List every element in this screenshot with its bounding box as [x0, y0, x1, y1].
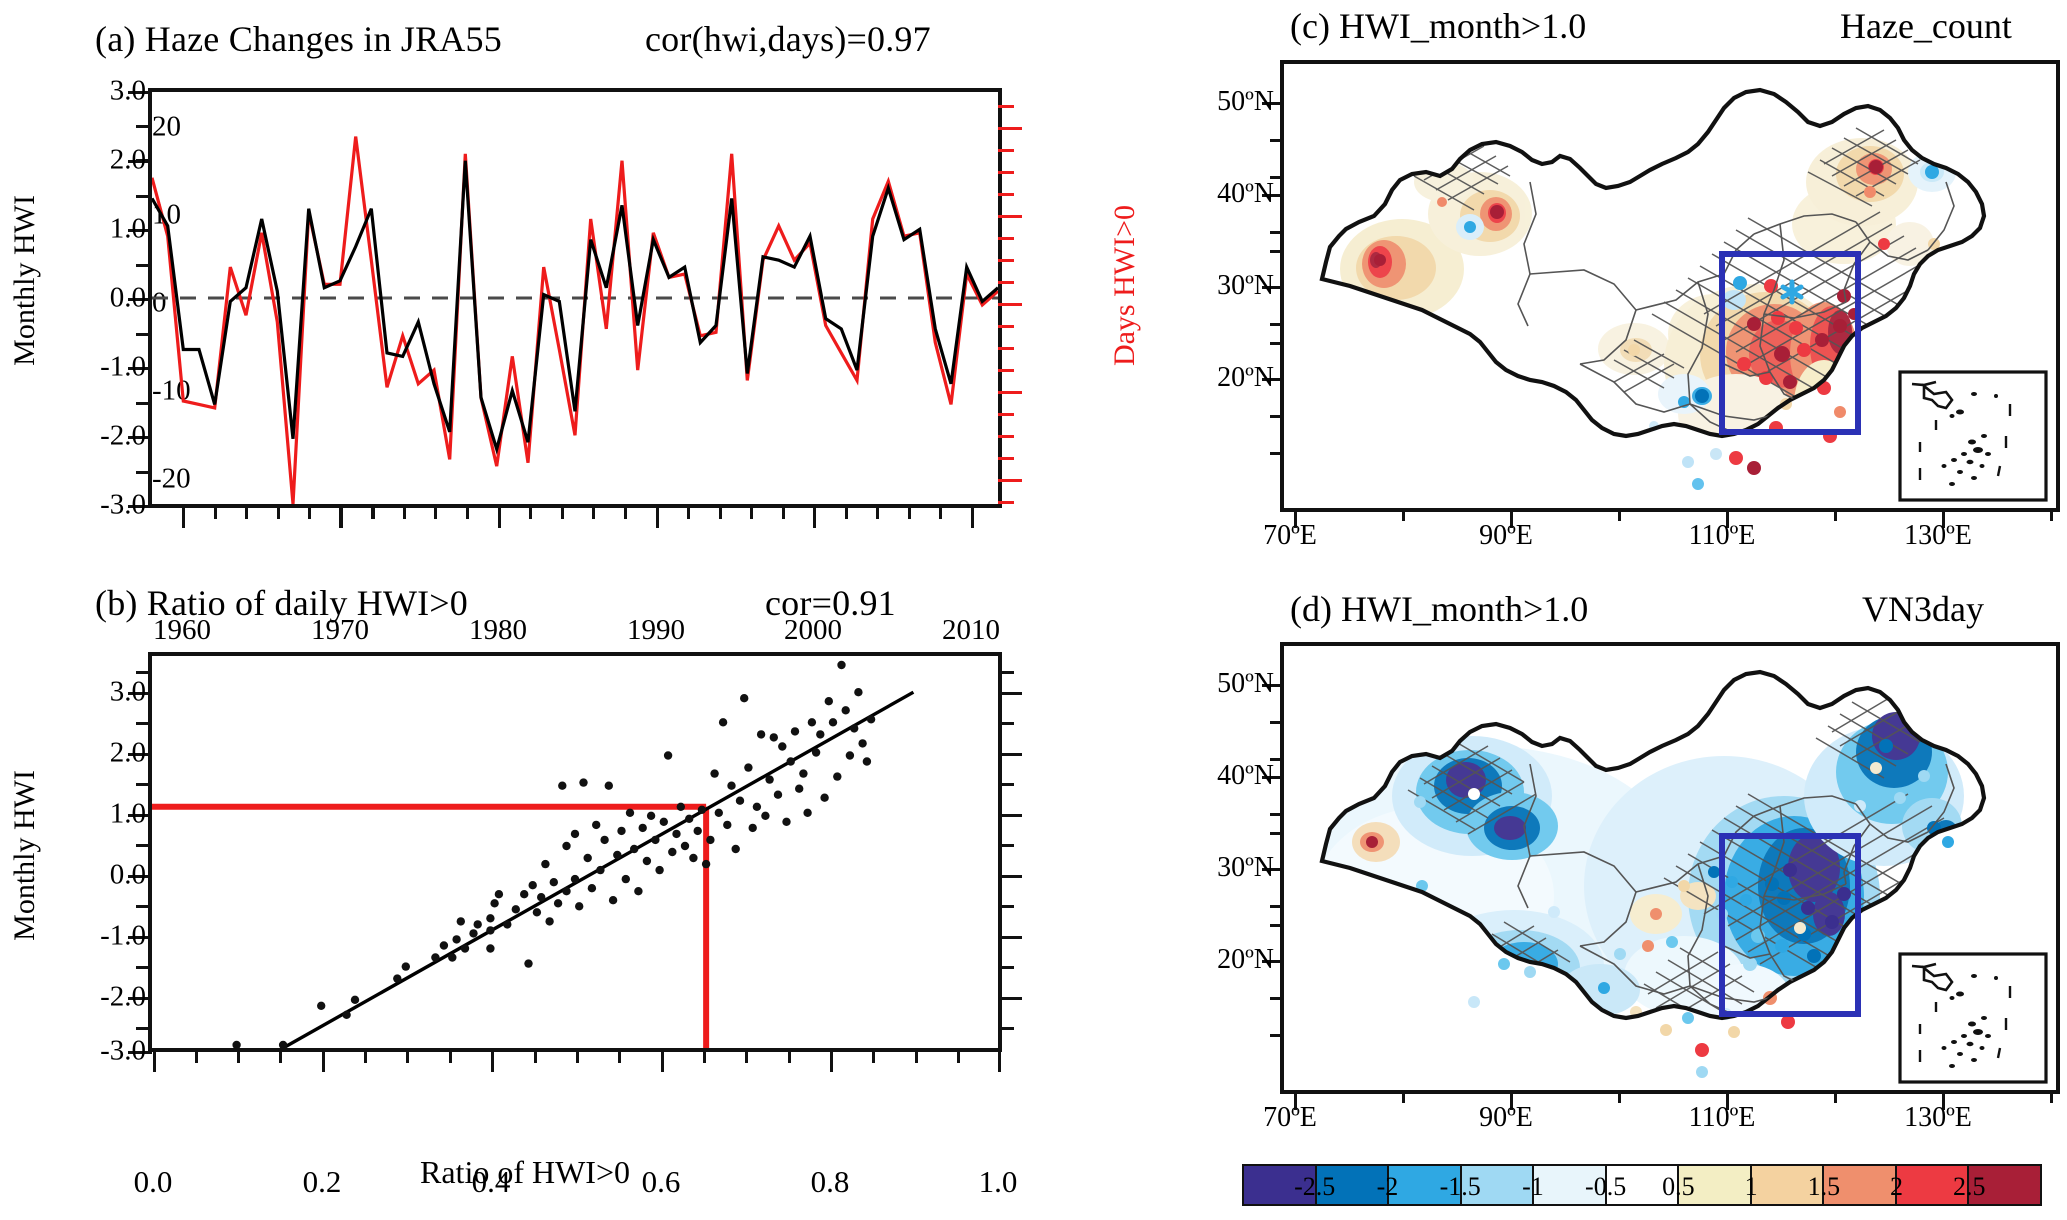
- panel-a-ytick-left-5: -2.0: [80, 420, 146, 453]
- colorbar-label-5: 0.5: [1662, 1172, 1695, 1202]
- scatter-point: [723, 821, 731, 829]
- scatter-point: [858, 739, 866, 747]
- panel-d-lat-3: 20ºN: [1174, 944, 1274, 976]
- scatter-point: [850, 724, 858, 732]
- scatter-point: [757, 730, 765, 738]
- panel-a-ytick-left-2: 1.0: [80, 213, 146, 246]
- scatter-point: [452, 935, 460, 943]
- colorbar-label-3: -1: [1522, 1172, 1544, 1202]
- panel-b-xlabel: Ratio of HWI>0: [420, 1154, 630, 1191]
- scatter-point: [545, 917, 553, 925]
- scatter-point: [833, 772, 841, 780]
- panel-c-lat-2: 30ºN: [1174, 270, 1274, 302]
- panel-b: (b) Ratio of daily HWI>0 cor=0.91 Monthl…: [0, 560, 1160, 1220]
- panel-a-correlation: cor(hwi,days)=0.97: [645, 18, 931, 60]
- panel-c-title: (c) HWI_month>1.0: [1290, 5, 1586, 47]
- scatter-point: [317, 1002, 325, 1010]
- panel-c-lon-0: 70ºE: [1263, 520, 1317, 552]
- panel-b-ytick-3: 0.0: [80, 859, 146, 892]
- scatter-point: [630, 845, 638, 853]
- scatter-point: [681, 842, 689, 850]
- scatter-point: [706, 836, 714, 844]
- panel-d-lon-2: 110ºE: [1689, 1102, 1756, 1134]
- colorbar-label-7: 1.5: [1808, 1172, 1841, 1202]
- panel-c-lat-0: 50ºN: [1174, 86, 1274, 118]
- scatter-point: [613, 851, 621, 859]
- scatter-point: [655, 866, 663, 874]
- scatter-point: [550, 878, 558, 886]
- scatter-point: [554, 899, 562, 907]
- panel-b-title: (b) Ratio of daily HWI>0: [95, 582, 468, 624]
- scatter-point: [749, 824, 757, 832]
- scatter-point: [457, 917, 465, 925]
- scatter-point: [592, 821, 600, 829]
- colorbar: [1242, 1164, 2042, 1206]
- colorbar-label-1: -2: [1377, 1172, 1399, 1202]
- scatter-point: [617, 827, 625, 835]
- scatter-point: [647, 812, 655, 820]
- scatter-points: [232, 661, 875, 1048]
- contour-fill-warm: [1340, 138, 1956, 486]
- scatter-point: [664, 751, 672, 759]
- scatter-point: [520, 890, 528, 898]
- panel-b-ylabel: Monthly HWI: [8, 770, 42, 941]
- scatter-point: [571, 830, 579, 838]
- panel-b-xtick-2: 0.4: [472, 1164, 511, 1200]
- scatter-point: [402, 962, 410, 970]
- south-china-sea-inset: [1900, 372, 2046, 500]
- scatter-point: [803, 809, 811, 817]
- scatter-point: [753, 803, 761, 811]
- scatter-point: [812, 748, 820, 756]
- scatter-point: [770, 733, 778, 741]
- panel-b-xtick-3: 0.6: [642, 1164, 681, 1200]
- figure-root: (a) Haze Changes in JRA55 cor(hwi,days)=…: [0, 0, 2067, 1219]
- panel-b-ytick-6: -3.0: [80, 1035, 146, 1068]
- panel-c-lat-3: 20ºN: [1174, 362, 1274, 394]
- panel-a-ytick-left-6: -3.0: [80, 489, 146, 522]
- scatter-point: [524, 959, 532, 967]
- panel-b-xtick-4: 0.8: [811, 1164, 850, 1200]
- scatter-point: [799, 769, 807, 777]
- scatter-point: [596, 866, 604, 874]
- scatter-point: [486, 914, 494, 922]
- colorbar-label-4: -0.5: [1585, 1172, 1626, 1202]
- scatter-point: [710, 769, 718, 777]
- scatter-point: [715, 809, 723, 817]
- scatter-point: [719, 718, 727, 726]
- panel-d-lon-3: 130ºE: [1904, 1102, 1972, 1134]
- scatter-point: [744, 763, 752, 771]
- scatter-point: [778, 742, 786, 750]
- scatter-point: [863, 757, 871, 765]
- scatter-point: [571, 875, 579, 883]
- panel-a-ytick-left-3: 0.0: [80, 282, 146, 315]
- panel-a-ytick-left-1: 2.0: [80, 144, 146, 177]
- colorbar-label-8: 2: [1890, 1172, 1903, 1202]
- scatter-point: [351, 996, 359, 1004]
- panel-b-xtick-1: 0.2: [303, 1164, 342, 1200]
- scatter-point: [622, 875, 630, 883]
- scatter-point: [825, 697, 833, 705]
- colorbar-label-6: 1: [1745, 1172, 1758, 1202]
- panel-c-lon-3: 130ºE: [1904, 520, 1972, 552]
- scatter-point: [486, 944, 494, 952]
- scatter-point: [393, 974, 401, 982]
- scatter-point: [837, 661, 845, 669]
- panel-d-lat-0: 50ºN: [1174, 668, 1274, 700]
- panel-b-xtick-0: 0.0: [134, 1164, 173, 1200]
- south-china-sea-inset: [1900, 954, 2046, 1082]
- panel-a: (a) Haze Changes in JRA55 cor(hwi,days)=…: [0, 0, 1160, 560]
- panel-a-timeseries: [152, 92, 998, 504]
- panel-d-subtitle: VN3day: [1862, 588, 1984, 630]
- panel-c-svg: [1284, 64, 2056, 508]
- scatter-point: [512, 905, 520, 913]
- panel-a-plot-area: 3.0 2.0 1.0 0.0 -1.0 -2.0 -3.0 20 10 0 -…: [148, 88, 1002, 508]
- scatter-point: [668, 848, 676, 856]
- scatter-point: [727, 782, 735, 790]
- scatter-point: [469, 929, 477, 937]
- scatter-point: [639, 824, 647, 832]
- scatter-point: [867, 715, 875, 723]
- scatter-point: [736, 797, 744, 805]
- scatter-point: [562, 887, 570, 895]
- colorbar-label-2: -1.5: [1440, 1172, 1481, 1202]
- scatter-point: [702, 860, 710, 868]
- panel-d-lon-0: 70ºE: [1263, 1102, 1317, 1134]
- panel-c-map: 50ºN 40ºN 30ºN 20ºN: [1280, 60, 2060, 512]
- scatter-point: [575, 902, 583, 910]
- panel-d-lon-1: 90ºE: [1479, 1102, 1533, 1134]
- scatter-point: [846, 751, 854, 759]
- scatter-point: [461, 944, 469, 952]
- scatter-point: [854, 688, 862, 696]
- scatter-point: [765, 775, 773, 783]
- scatter-point: [740, 694, 748, 702]
- scatter-point: [609, 896, 617, 904]
- panel-c-lat-1: 40ºN: [1174, 178, 1274, 210]
- panel-a-ylabel-right: Days HWI>0: [1108, 205, 1142, 366]
- panel-b-correlation: cor=0.91: [765, 582, 896, 624]
- panel-d-map: 50ºN 40ºN 30ºN 20ºN: [1280, 642, 2060, 1094]
- panel-b-ytick-0: 3.0: [80, 676, 146, 709]
- scatter-point: [782, 818, 790, 826]
- scatter-point: [774, 791, 782, 799]
- scatter-point: [579, 778, 587, 786]
- scatter-point: [694, 827, 702, 835]
- series-monthly-hwi: [152, 161, 998, 449]
- scatter-point: [431, 953, 439, 961]
- scatter-point: [541, 860, 549, 868]
- scatter-point: [791, 727, 799, 735]
- scatter-point: [588, 884, 596, 892]
- scatter-point: [342, 1011, 350, 1019]
- panel-a-ytick-left-4: -1.0: [80, 351, 146, 384]
- panel-a-ylabel-left: Monthly HWI: [8, 195, 42, 366]
- scatter-point: [558, 782, 566, 790]
- panel-d-lat-2: 30ºN: [1174, 852, 1274, 884]
- scatter-point: [689, 854, 697, 862]
- scatter-point: [503, 920, 511, 928]
- scatter-point: [448, 953, 456, 961]
- scatter-point: [626, 809, 634, 817]
- panel-d-lat-1: 40ºN: [1174, 760, 1274, 792]
- scatter-point: [795, 785, 803, 793]
- scatter-point: [672, 830, 680, 838]
- panel-d-svg: [1284, 646, 2056, 1090]
- colorbar-label-0: -2.5: [1294, 1172, 1335, 1202]
- panel-b-scatter: [152, 656, 998, 1048]
- scatter-point: [698, 806, 706, 814]
- scatter-point: [660, 818, 668, 826]
- panel-c-lon-2: 110ºE: [1689, 520, 1756, 552]
- panel-b-plot-area: 3.0 2.0 1.0 0.0 -1.0 -2.0 -3.0 0.0 0.2 0…: [148, 652, 1002, 1052]
- panel-b-xtick-5: 1.0: [979, 1164, 1018, 1200]
- panel-b-ytick-2: 1.0: [80, 798, 146, 831]
- scatter-point: [600, 836, 608, 844]
- scatter-point: [842, 706, 850, 714]
- scatter-point: [232, 1041, 240, 1048]
- panel-c-subtitle: Haze_count: [1840, 5, 2012, 47]
- colorbar-label-9: 2.5: [1953, 1172, 1986, 1202]
- scatter-point: [474, 920, 482, 928]
- scatter-point: [562, 842, 570, 850]
- scatter-point: [732, 845, 740, 853]
- panel-a-ytick-left-0: 3.0: [80, 75, 146, 108]
- scatter-point: [808, 718, 816, 726]
- scatter-point: [829, 718, 837, 726]
- scatter-point: [533, 908, 541, 916]
- scatter-point: [495, 890, 503, 898]
- panel-d-title: (d) HWI_month>1.0: [1290, 588, 1588, 630]
- scatter-point: [486, 926, 494, 934]
- scatter-point: [787, 757, 795, 765]
- scatter-point: [605, 782, 613, 790]
- scatter-point: [584, 854, 592, 862]
- scatter-point: [490, 899, 498, 907]
- panel-b-ytick-4: -1.0: [80, 920, 146, 953]
- scatter-point: [677, 803, 685, 811]
- scatter-point: [685, 815, 693, 823]
- panel-c-lon-1: 90ºE: [1479, 520, 1533, 552]
- scatter-point: [279, 1041, 287, 1048]
- panel-b-ytick-5: -2.0: [80, 981, 146, 1014]
- panel-a-title: (a) Haze Changes in JRA55: [95, 18, 502, 60]
- scatter-point: [820, 794, 828, 802]
- scatter-point: [816, 730, 824, 738]
- scatter-point: [440, 941, 448, 949]
- scatter-point: [651, 836, 659, 844]
- panel-b-ytick-1: 2.0: [80, 737, 146, 770]
- scatter-point: [761, 812, 769, 820]
- scatter-point: [537, 893, 545, 901]
- scatter-point: [643, 857, 651, 865]
- scatter-point: [634, 887, 642, 895]
- scatter-point: [529, 881, 537, 889]
